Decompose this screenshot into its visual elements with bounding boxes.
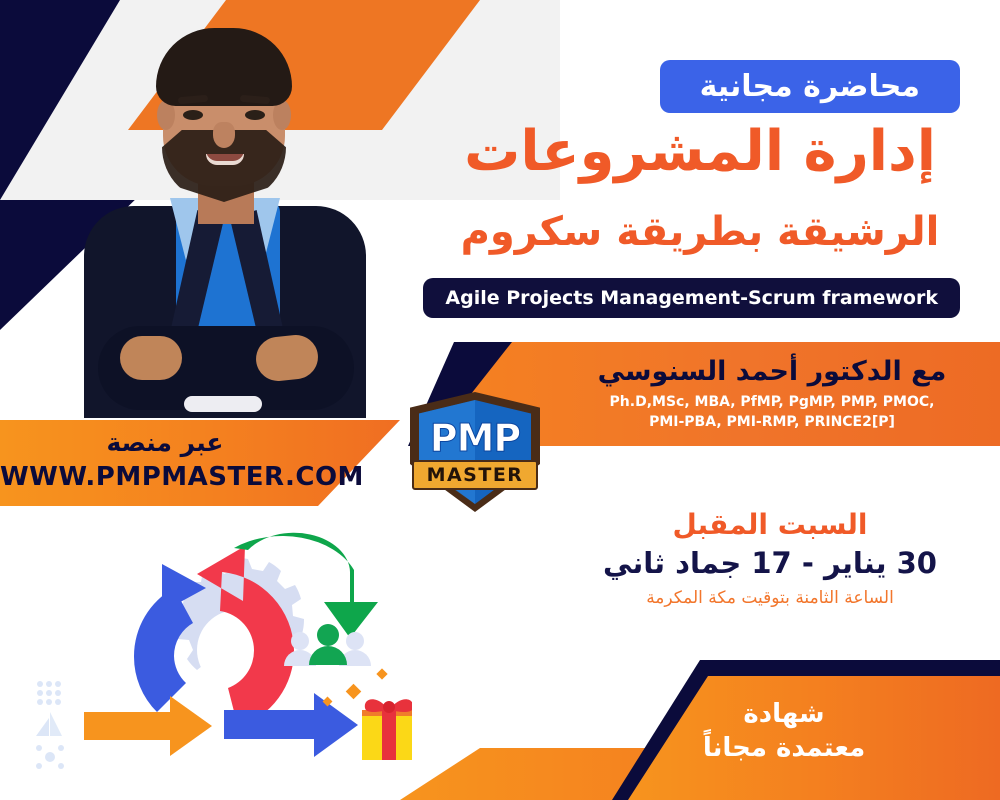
platform-label: عبر منصة [0, 428, 330, 457]
instructor-credentials: Ph.D,MSc, MBA, PfMP, PgMP, PMP, PMOC, PM… [572, 392, 972, 433]
certificate-line-2: معتمدة مجاناً [624, 732, 944, 766]
pmp-master-logo: PMP MASTER [400, 392, 550, 512]
instructor-name: مع الدكتور أحمد السنوسي [572, 356, 972, 387]
scatter-dots-icon [36, 744, 64, 774]
cycle-arrow-orange [84, 696, 212, 756]
logo-master-text: MASTER [412, 464, 538, 486]
date-heading: السبت المقبل [580, 508, 960, 541]
shirt-cuff [184, 396, 262, 412]
free-lecture-badge: محاضرة مجانية [660, 60, 960, 113]
promotional-poster: محاضرة مجانية إدارة المشروعات الرشيقة بط… [0, 0, 1000, 800]
agile-cycle-illustration [62, 520, 412, 770]
instructor-photo [58, 18, 388, 418]
eye-right [245, 110, 265, 120]
website-url[interactable]: WWW.PMPMASTER.COM [0, 462, 330, 492]
certificate-line-1: شهادة [624, 698, 944, 732]
dot-grid-icon [36, 680, 62, 710]
nose [213, 122, 235, 148]
page-title: إدارة المشروعات [440, 122, 960, 182]
eye-left [183, 110, 203, 120]
credentials-line-2: PMI-PBA, PMI-RMP, PRINCE2[P] [572, 412, 972, 432]
gift-icon [362, 699, 412, 760]
logo-pmp-text: PMP [410, 416, 540, 460]
hand-left [120, 336, 182, 380]
event-time: الساعة الثامنة بتوقيت مكة المكرمة [580, 588, 960, 608]
certificate-text: شهادة معتمدة مجاناً [624, 698, 944, 766]
chart-triangle-icon [36, 712, 62, 740]
hair [156, 28, 292, 106]
mouth [206, 154, 244, 165]
date-value: 30 يناير - 17 جماد ثاني [580, 546, 960, 580]
page-subtitle: الرشيقة بطريقة سكروم [440, 210, 960, 254]
credentials-line-1: Ph.D,MSc, MBA, PfMP, PgMP, PMP, PMOC, [572, 392, 972, 412]
english-subtitle-banner: Agile Projects Management-Scrum framewor… [423, 278, 960, 318]
